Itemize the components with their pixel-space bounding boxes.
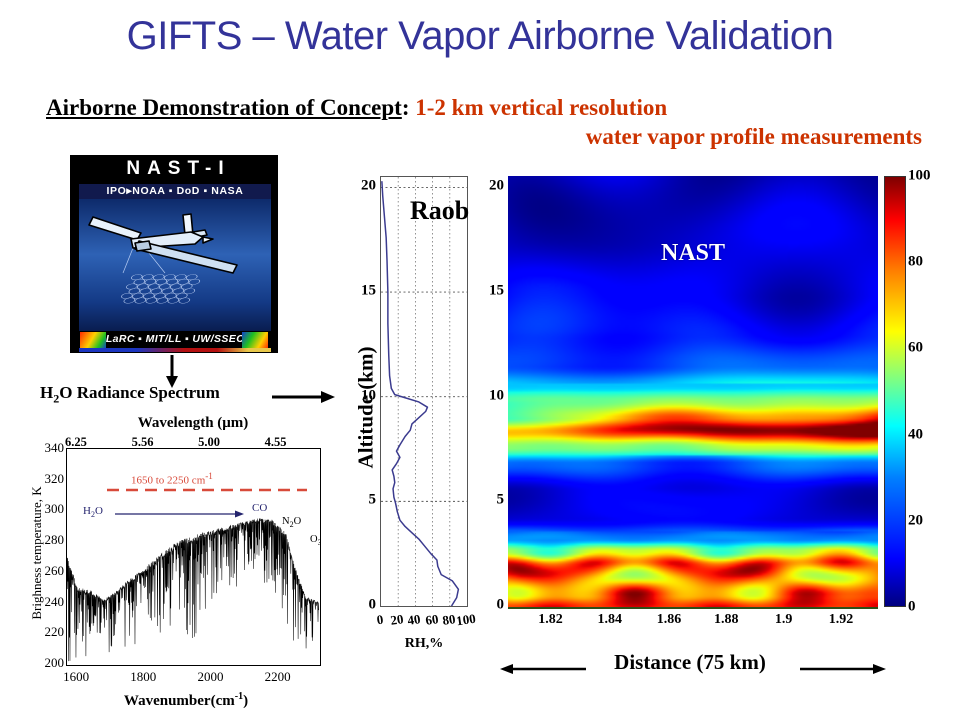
heatmap-x-tick: 1.9 bbox=[775, 612, 793, 628]
spectrum-top-axis-ticks: 6.255.565.004.55 bbox=[56, 435, 326, 449]
raob-y-tick: 15 bbox=[361, 283, 376, 300]
subtitle-lead-text: Airborne Demonstration of Concept bbox=[46, 95, 402, 120]
raob-profile-trace bbox=[381, 177, 467, 606]
heatmap-x-axis-ticks: 1.821.841.861.881.91.92 bbox=[494, 612, 894, 630]
spectrum-y-tick: 200 bbox=[45, 655, 65, 671]
raob-humidity-line bbox=[382, 181, 459, 606]
colorbar-tick: 20 bbox=[908, 512, 923, 529]
spectrum-plot-area: 1650 to 2250 cm-1 H2O CO N2O O3 bbox=[66, 448, 321, 666]
spectrum-n2o-label: N2O bbox=[282, 516, 301, 529]
xlabel-close: ) bbox=[243, 693, 248, 709]
spectrum-y-tick: 320 bbox=[45, 471, 65, 487]
humidity-colorbar bbox=[884, 176, 906, 607]
xlabel-sup: -1 bbox=[235, 691, 243, 702]
colorbar-tick: 0 bbox=[908, 599, 916, 616]
heatmap-x-tick: 1.84 bbox=[598, 612, 623, 628]
brightness-temperature-spectrum-chart: Wavelength (μm) 6.255.565.004.55 Brighne… bbox=[8, 415, 338, 715]
spectrum-co-label: CO bbox=[252, 502, 267, 514]
heatmap-x-tick: 1.92 bbox=[829, 612, 854, 628]
spectrum-y-tick: 340 bbox=[45, 440, 65, 456]
spectrum-range-dashed-bar bbox=[107, 487, 307, 493]
spectrum-x-tick: 1800 bbox=[130, 669, 156, 685]
spectrum-x-tick: 2000 bbox=[197, 669, 223, 685]
caption-h: H bbox=[40, 383, 53, 402]
caption-rest: O Radiance Spectrum bbox=[59, 383, 220, 402]
spectrum-y-tick: 280 bbox=[45, 532, 65, 548]
spectrum-x-axis-label: Wavenumber(cm-1) bbox=[36, 691, 336, 710]
spectrum-o3-label: O3 bbox=[310, 534, 321, 547]
spectrum-y-tick: 220 bbox=[45, 624, 65, 640]
u2-aircraft-icon bbox=[79, 199, 271, 331]
subtitle-highlight-2: water vapor profile measurements bbox=[586, 124, 922, 149]
heatmap-x-tick: 1.88 bbox=[714, 612, 739, 628]
heatmap-y-tick: 15 bbox=[489, 283, 504, 300]
spectrum-h2o-label: H2O bbox=[83, 505, 103, 519]
colorbar-tick: 60 bbox=[908, 340, 923, 357]
heatmap-y-tick: 10 bbox=[489, 387, 504, 404]
logo-swatch-right bbox=[242, 332, 268, 349]
subtitle-colon: : bbox=[402, 95, 410, 120]
heatmap-y-tick: 20 bbox=[489, 178, 504, 195]
logo-sky-background bbox=[79, 199, 271, 331]
spectrum-species-arrow-icon bbox=[115, 509, 245, 519]
page-title: GIFTS – Water Vapor Airborne Validation bbox=[0, 14, 960, 59]
heatmap-x-tick: 1.82 bbox=[538, 612, 563, 628]
heatmap-title: NAST bbox=[508, 240, 878, 267]
spectrum-x-axis-ticks: 1600180020002200 bbox=[66, 669, 321, 685]
raob-profile-chart bbox=[380, 176, 468, 607]
raob-x-axis-ticks: 020406080100 bbox=[372, 612, 476, 630]
arrow-right-icon bbox=[272, 388, 336, 406]
heatmap-x-tick: 1.86 bbox=[657, 612, 682, 628]
raob-x-tick: 20 bbox=[390, 611, 405, 629]
subtitle-line-1: Airborne Demonstration of Concept: 1-2 k… bbox=[46, 94, 926, 122]
colorbar-tick: 80 bbox=[908, 254, 923, 271]
logo-agency-list: IPO▸NOAA ▪ DoD ▪ NASA bbox=[79, 184, 271, 199]
heatmap-y-tick: 0 bbox=[497, 597, 505, 614]
raob-y-axis-ticks: 05101520 bbox=[352, 176, 376, 607]
radiance-spectrum-caption: H2O Radiance Spectrum bbox=[40, 383, 220, 406]
raob-x-tick: 80 bbox=[441, 611, 456, 629]
raob-y-tick: 20 bbox=[361, 178, 376, 195]
raob-chart-title: Raob bbox=[410, 196, 469, 226]
spectrum-y-tick: 240 bbox=[45, 594, 65, 610]
raob-x-tick: 40 bbox=[407, 611, 422, 629]
raob-x-tick: 0 bbox=[376, 612, 385, 629]
spectrum-y-tick: 260 bbox=[45, 563, 65, 579]
logo-color-strip bbox=[79, 348, 271, 352]
heatmap-y-tick: 5 bbox=[497, 492, 505, 509]
spectrum-x-tick: 2200 bbox=[265, 669, 291, 685]
heatmap-y-axis-ticks: 05101520 bbox=[480, 176, 504, 607]
raob-y-tick: 10 bbox=[361, 387, 376, 404]
raob-y-tick: 5 bbox=[369, 492, 377, 509]
colorbar-ticks: 020406080100 bbox=[908, 176, 938, 607]
colorbar-tick: 100 bbox=[908, 168, 931, 185]
arrow-right-icon-distance bbox=[800, 662, 886, 676]
raob-y-tick: 0 bbox=[369, 597, 377, 614]
logo-title: NAST-I bbox=[71, 158, 278, 180]
colorbar-tick: 40 bbox=[908, 426, 923, 443]
subtitle-highlight-1: 1-2 km vertical resolution bbox=[415, 95, 667, 120]
spectrum-y-tick: 300 bbox=[45, 501, 65, 517]
spectrum-range-annotation: 1650 to 2250 cm-1 bbox=[131, 471, 213, 487]
raob-x-tick: 60 bbox=[424, 611, 439, 629]
raob-x-tick: 100 bbox=[455, 611, 477, 630]
spectrum-x-tick: 1600 bbox=[63, 669, 89, 685]
nast-i-logo: NAST-I IPO▸NOAA ▪ DoD ▪ NASA bbox=[70, 155, 278, 353]
raob-x-axis-label: RH,% bbox=[380, 636, 468, 652]
subtitle-block: Airborne Demonstration of Concept: 1-2 k… bbox=[46, 94, 926, 152]
spectrum-y-axis-ticks: 200220240260280300320340 bbox=[28, 448, 64, 666]
logo-swatch-left bbox=[80, 332, 106, 349]
subtitle-line-2: water vapor profile measurements bbox=[46, 122, 926, 152]
spectrum-top-axis-label: Wavelength (μm) bbox=[68, 415, 318, 432]
xlabel-main: Wavenumber(cm bbox=[124, 693, 235, 709]
